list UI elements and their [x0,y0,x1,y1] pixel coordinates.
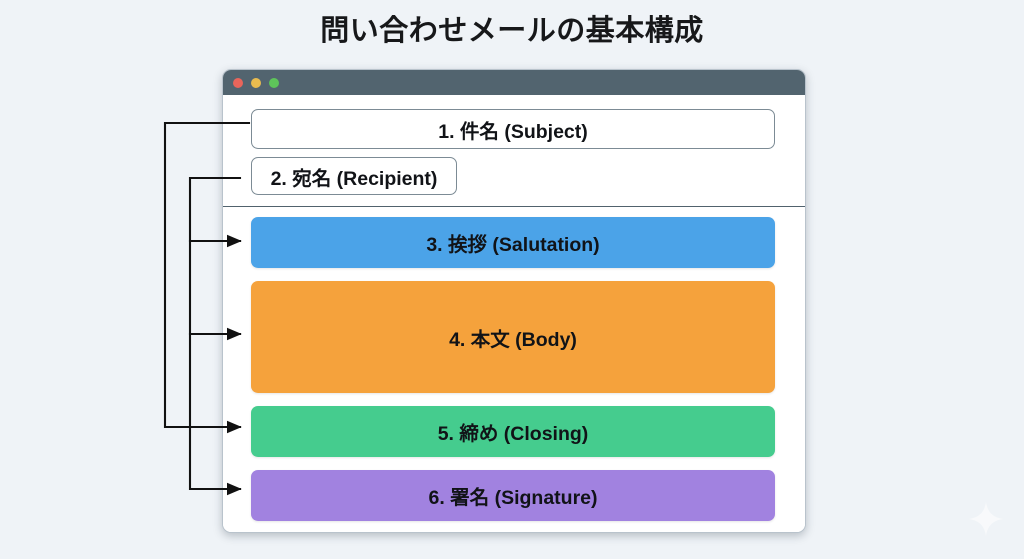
field-body[interactable]: 4. 本文 (Body) [251,281,775,393]
sparkle-icon [966,499,1006,539]
field-subject[interactable]: 1. 件名 (Subject) [251,109,775,149]
field-closing[interactable]: 5. 締め (Closing) [251,406,775,457]
maximize-button-icon[interactable] [269,78,279,88]
window-titlebar [223,70,805,95]
close-button-icon[interactable] [233,78,243,88]
minimize-button-icon[interactable] [251,78,261,88]
email-window-body: 1. 件名 (Subject) 2. 宛名 (Recipient) 3. 挨拶 … [223,95,805,533]
field-signature[interactable]: 6. 署名 (Signature) [251,470,775,521]
field-salutation[interactable]: 3. 挨拶 (Salutation) [251,217,775,268]
page-title: 問い合わせメールの基本構成 [0,14,1024,49]
header-body-divider [223,206,805,207]
field-recipient[interactable]: 2. 宛名 (Recipient) [251,157,457,195]
email-window: 1. 件名 (Subject) 2. 宛名 (Recipient) 3. 挨拶 … [222,69,806,533]
slide-canvas: 問い合わせメールの基本構成 1. 件名 (Subject) 2. 宛名 (Rec… [0,0,1024,559]
